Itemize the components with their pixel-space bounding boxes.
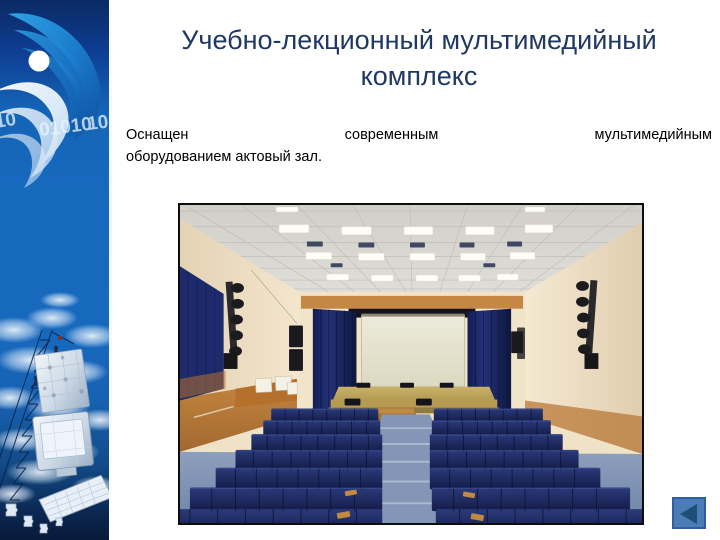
sidebar-separator xyxy=(109,0,112,540)
body-text: Оснащен современным мультимедийным обору… xyxy=(126,124,712,168)
previous-slide-button[interactable] xyxy=(672,497,706,529)
page-title-line-2: комплекс xyxy=(361,61,478,91)
slide-canvas: 10 01010 10 xyxy=(0,0,720,540)
decorative-sidebar: 10 01010 10 xyxy=(0,0,109,540)
svg-text:10: 10 xyxy=(86,112,109,135)
projection-screen xyxy=(361,314,464,387)
page-title-line-1: Учебно-лекционный мультимедийный xyxy=(181,25,657,55)
auditorium-photo xyxy=(178,203,644,525)
triangle-left-icon xyxy=(680,504,697,524)
body-text-line-1: Оснащен современным мультимедийным xyxy=(126,124,712,146)
body-text-line-2: оборудованием актовый зал. xyxy=(126,146,712,168)
auditorium-photo-artwork xyxy=(180,205,642,523)
sidebar-artwork: 10 01010 10 xyxy=(0,0,109,540)
page-title: Учебно-лекционный мультимедийный комплек… xyxy=(126,22,712,94)
